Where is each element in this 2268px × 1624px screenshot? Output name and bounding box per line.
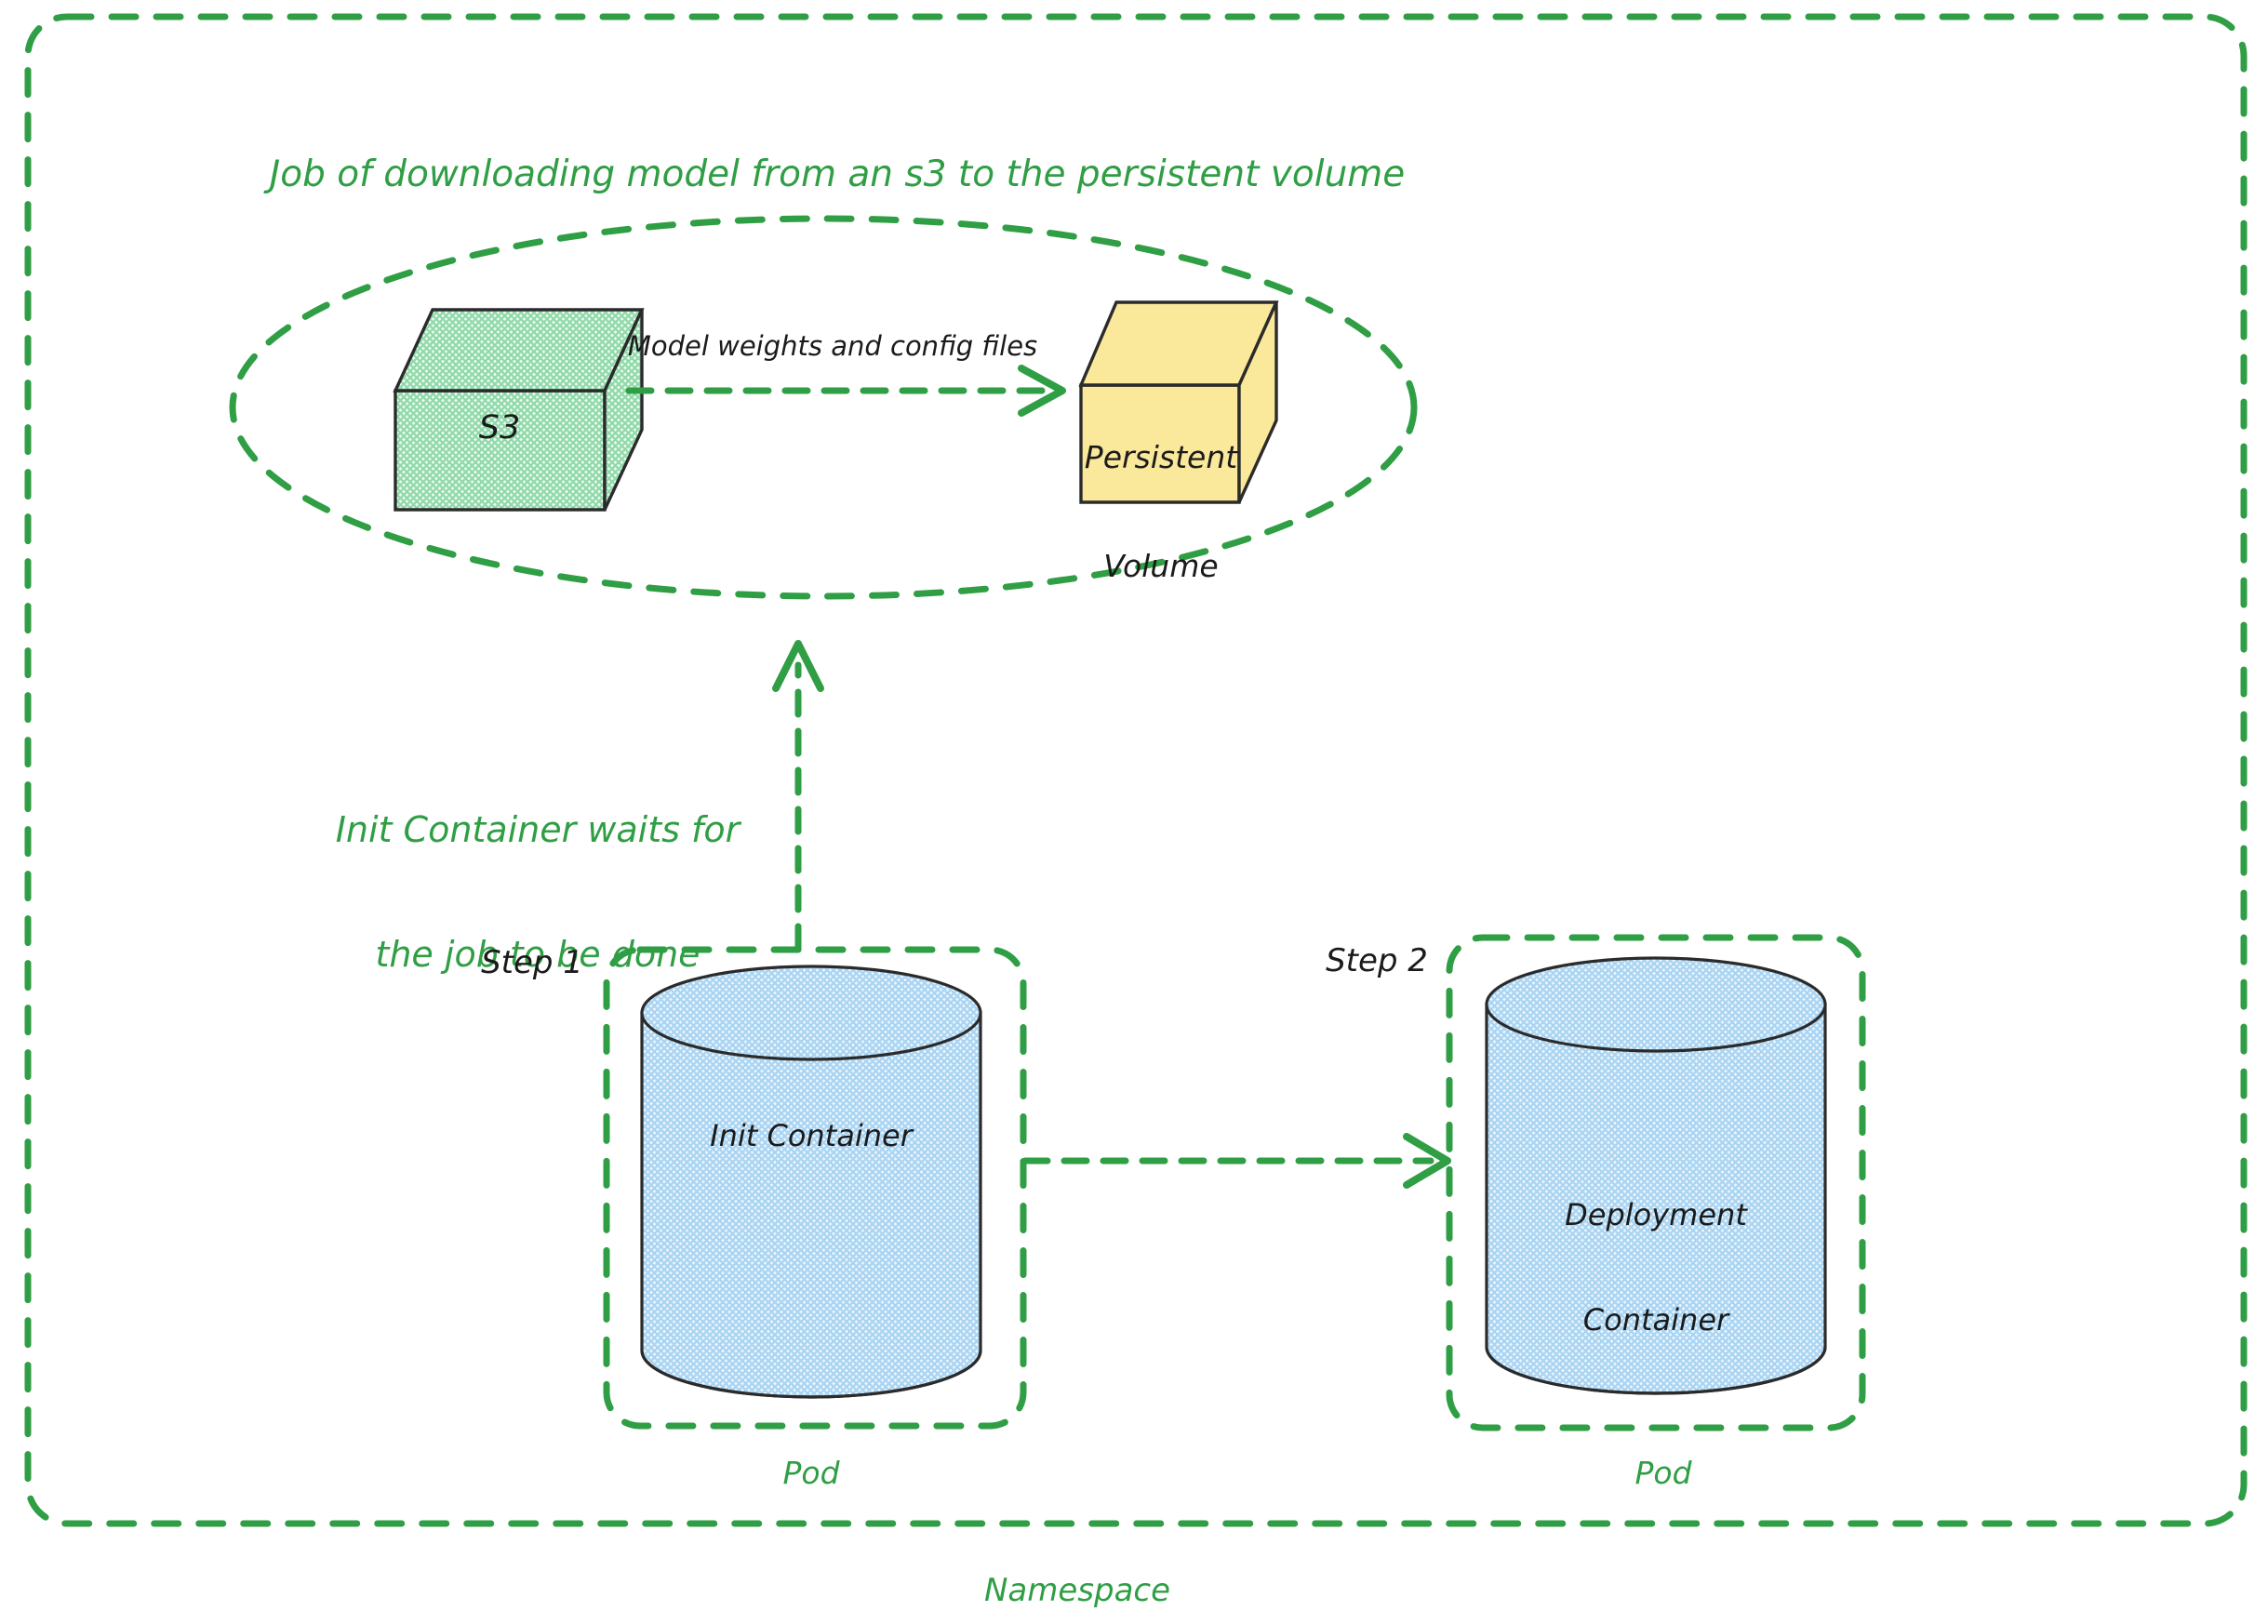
- edge-s3-to-volume: [629, 368, 1062, 413]
- pod-2-label: Pod: [1634, 1456, 1691, 1492]
- persistent-volume-label-line-2: Volume: [1085, 549, 1237, 585]
- deployment-container-label-line-2: Container: [1565, 1303, 1747, 1338]
- init-container-label: Init Container: [710, 1119, 913, 1154]
- pod-1-label: Pod: [782, 1456, 839, 1492]
- edge-label-init-container-waits: Init Container waits for the job to be d…: [336, 725, 740, 1059]
- edge-label-model-weights: Model weights and config files: [628, 330, 1037, 362]
- edge-pod1-to-pod2: [1025, 1137, 1448, 1185]
- deployment-container-label: Deployment Container: [1565, 1127, 1747, 1408]
- job-title-note: Job of downloading model from an s3 to t…: [270, 153, 1406, 196]
- diagram-canvas: Job of downloading model from an s3 to t…: [0, 0, 2268, 1624]
- wait-label-line-1: Init Container waits for: [336, 809, 740, 851]
- persistent-volume-node-label: Persistent Volume: [1085, 367, 1237, 658]
- persistent-volume-label-line-1: Persistent: [1085, 440, 1237, 476]
- edge-init-container-waits: [776, 644, 820, 949]
- s3-node-label: S3: [479, 409, 521, 447]
- step-1-label: Step 1: [481, 944, 583, 981]
- namespace-label: Namespace: [984, 1572, 1170, 1609]
- deployment-container-label-line-1: Deployment: [1565, 1198, 1747, 1233]
- step-2-label: Step 2: [1326, 942, 1428, 979]
